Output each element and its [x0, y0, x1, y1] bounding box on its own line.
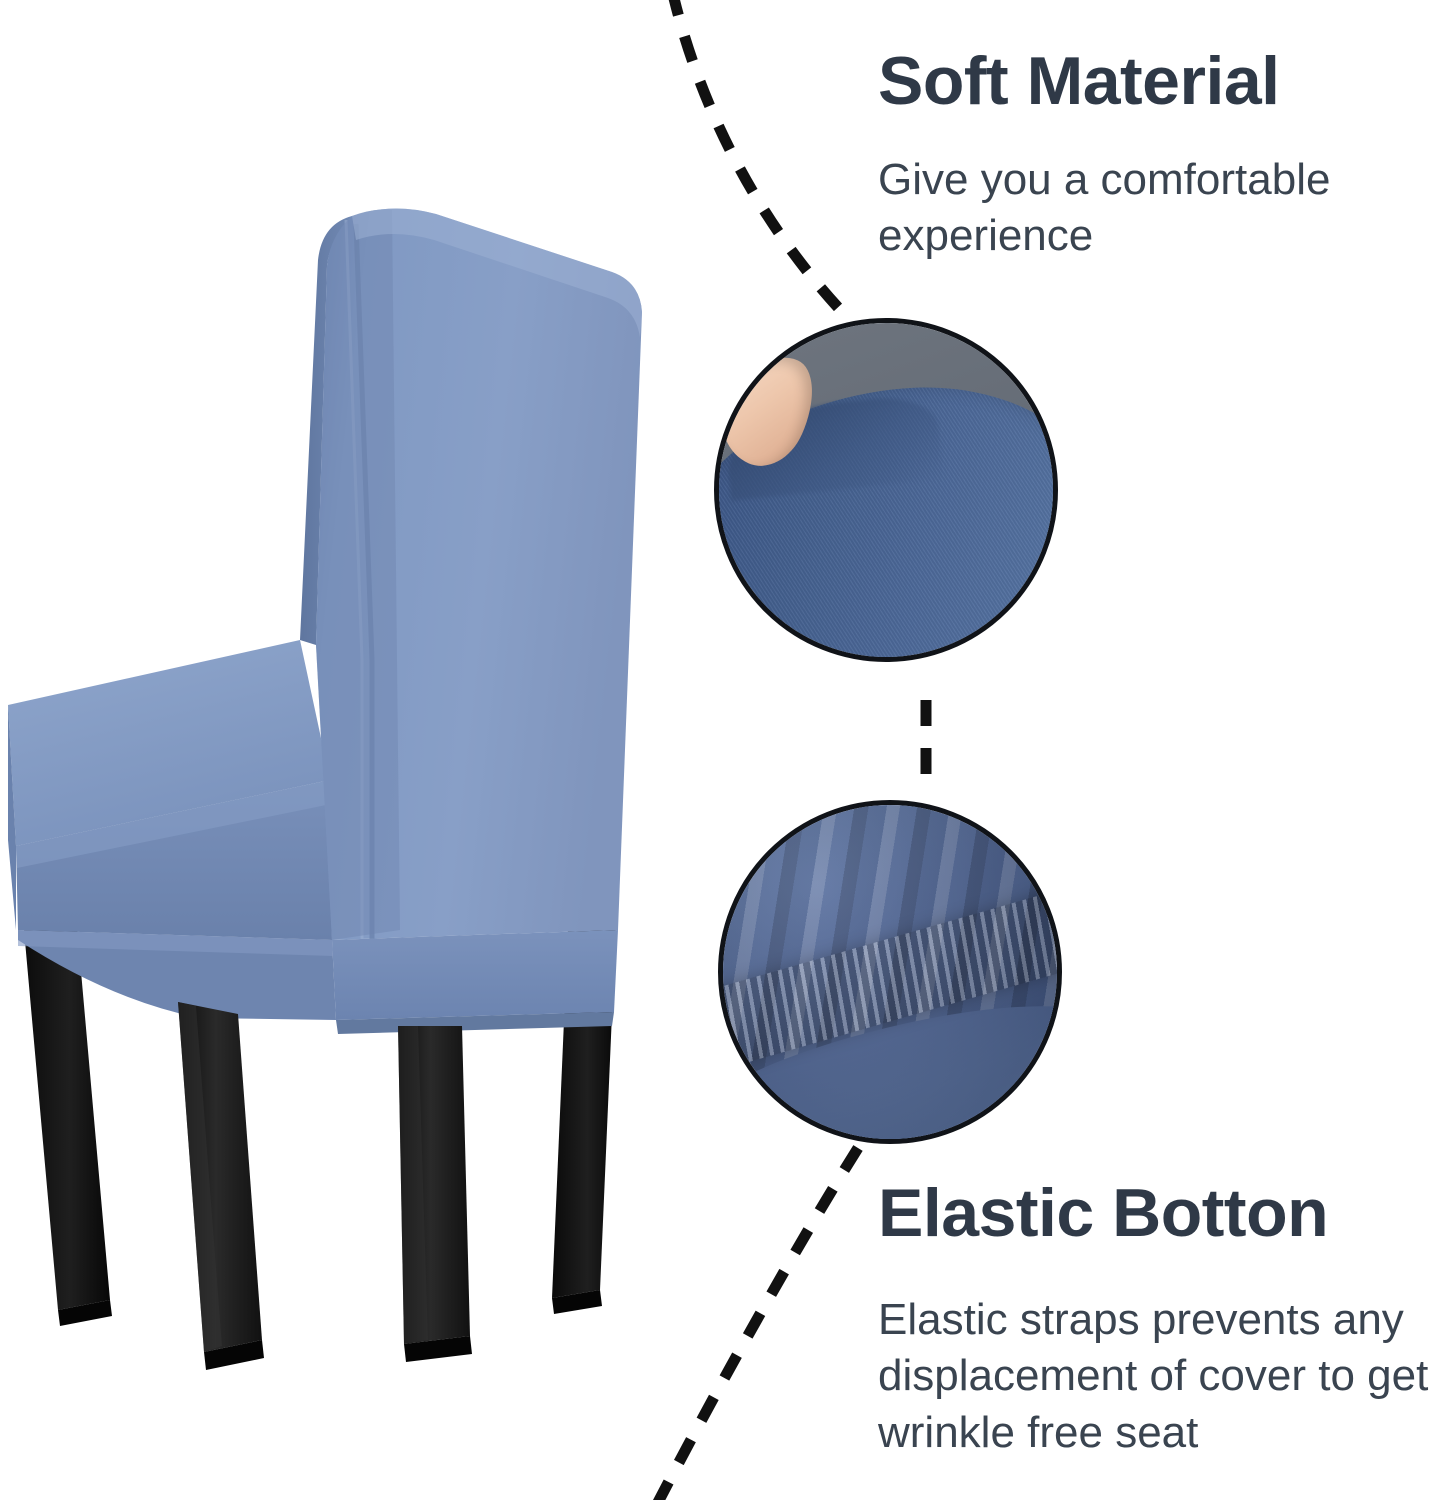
elastic-bottom-heading: Elastic Botton [878, 1178, 1328, 1249]
fabric-stretch-closeup-inset [714, 318, 1058, 662]
elastic-bottom-body-text: Elastic straps prevents any displacement… [878, 1292, 1438, 1461]
product-feature-image: Soft Material Give you a comfortable exp… [0, 0, 1448, 1500]
elastic-hem-closeup-inset [718, 800, 1062, 1144]
chair-skirt [18, 930, 618, 1034]
chair-illustration [0, 140, 700, 1400]
chair-leg-front-left [178, 1002, 264, 1370]
chair-seat [8, 640, 332, 940]
chair-back [300, 208, 642, 940]
inset-vignette [723, 805, 1057, 1139]
soft-material-body-text: Give you a comfortable experience [878, 152, 1398, 265]
soft-material-heading: Soft Material [878, 46, 1280, 117]
chair-leg-front-right [398, 1026, 472, 1362]
